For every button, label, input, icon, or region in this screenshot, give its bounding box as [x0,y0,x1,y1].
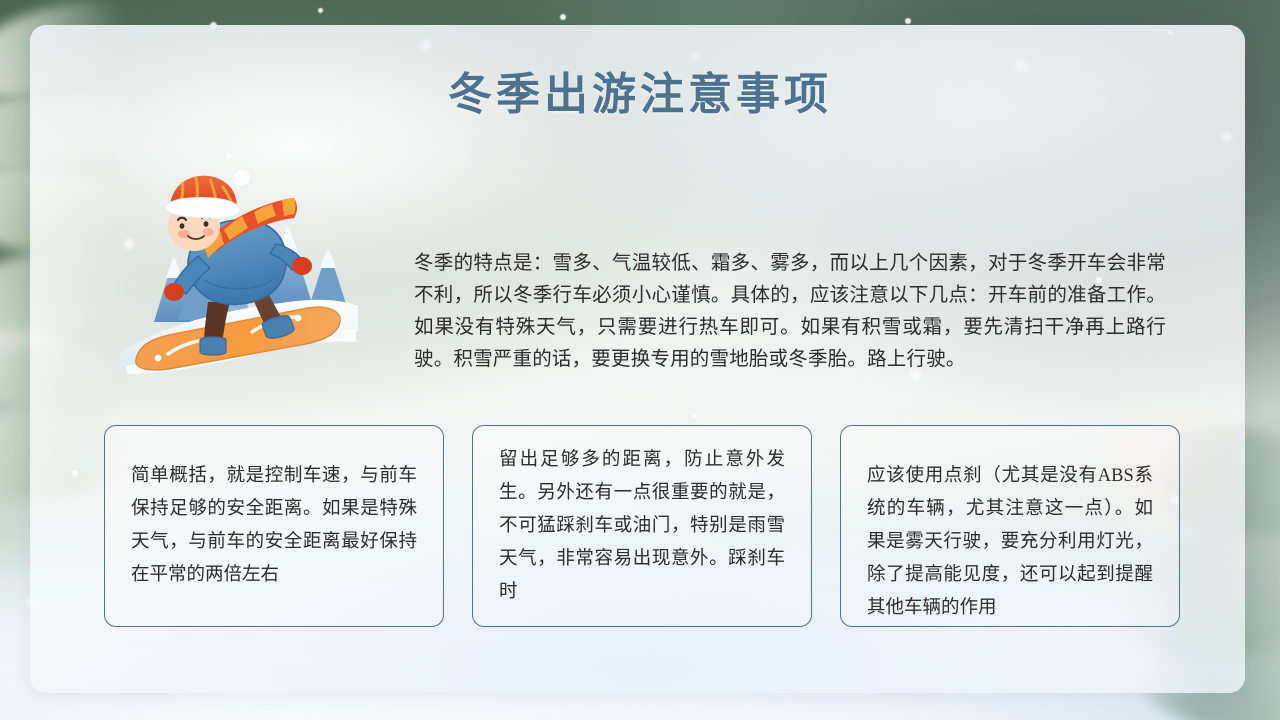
tip-box-speed-distance[interactable]: 简单概括，就是控制车速，与前车保持足够的安全距离。如果是特殊天气，与前车的安全距… [104,425,444,627]
snowboarder-illustration [112,160,362,390]
snowflake-icon [692,413,697,418]
body-paragraph: 冬季的特点是：雪多、气温较低、霜多、雾多，而以上几个因素，对于冬季开车会非常不利… [414,248,1166,376]
tip-box-abs-lights[interactable]: 应该使用点刹（尤其是没有ABS系统的车辆，尤其注意这一点）。如果是雾天行驶，要充… [840,425,1180,627]
mitten-icon [164,283,184,301]
knit-hat-icon [166,170,250,218]
presentation-slide: 冬季出游注意事项 [0,0,1280,720]
tip-box-braking[interactable]: 留出足够多的距离，防止意外发生。另外还有一点很重要的就是，不可猛踩刹车或油门，特… [472,425,812,627]
tip-text: 应该使用点刹（尤其是没有ABS系统的车辆，尤其注意这一点）。如果是雾天行驶，要充… [867,460,1153,625]
mitten-icon [292,257,312,275]
snowflake-icon [226,153,232,159]
tip-text: 留出足够多的距离，防止意外发生。另外还有一点很重要的就是，不可猛踩刹车或油门，特… [499,444,785,609]
tip-text: 简单概括，就是控制车速，与前车保持足够的安全距离。如果是特殊天气，与前车的安全距… [131,460,417,592]
tip-box-group: 简单概括，就是控制车速，与前车保持足够的安全距离。如果是特殊天气，与前车的安全距… [104,425,1180,627]
page-title: 冬季出游注意事项 [0,58,1280,122]
pompom-icon [234,170,250,186]
